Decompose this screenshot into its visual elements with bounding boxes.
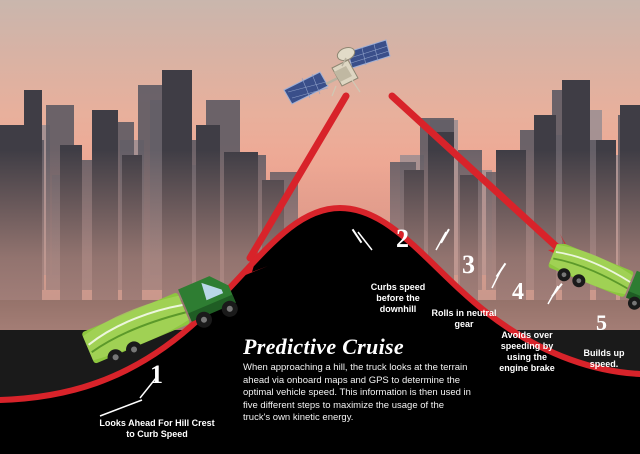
page-title: Predictive Cruise <box>243 334 404 360</box>
body-copy: When approaching a hill, the truck looks… <box>243 362 473 425</box>
step-number-4: 4 <box>512 280 524 304</box>
signal-arrow-icon-right <box>392 96 574 264</box>
predictive-cruise-infographic: 1 2 3 4 5 Looks Ahead For Hill Crest to … <box>0 0 640 454</box>
step-number-3: 3 <box>462 252 475 278</box>
step-label-1: Looks Ahead For Hill Crest to Curb Speed <box>92 418 222 440</box>
step-number-1: 1 <box>150 362 163 388</box>
step-label-3: Rolls in neutral gear <box>428 308 500 330</box>
step-number-2: 2 <box>396 226 409 252</box>
step-label-5: Builds up speed. <box>578 348 630 370</box>
step-number-5: 5 <box>596 312 607 334</box>
truck-icon-left <box>78 272 258 372</box>
step-label-4: Avoids over speeding by using the engine… <box>496 330 558 374</box>
step-label-2: Curbs speed before the downhill <box>366 282 430 315</box>
